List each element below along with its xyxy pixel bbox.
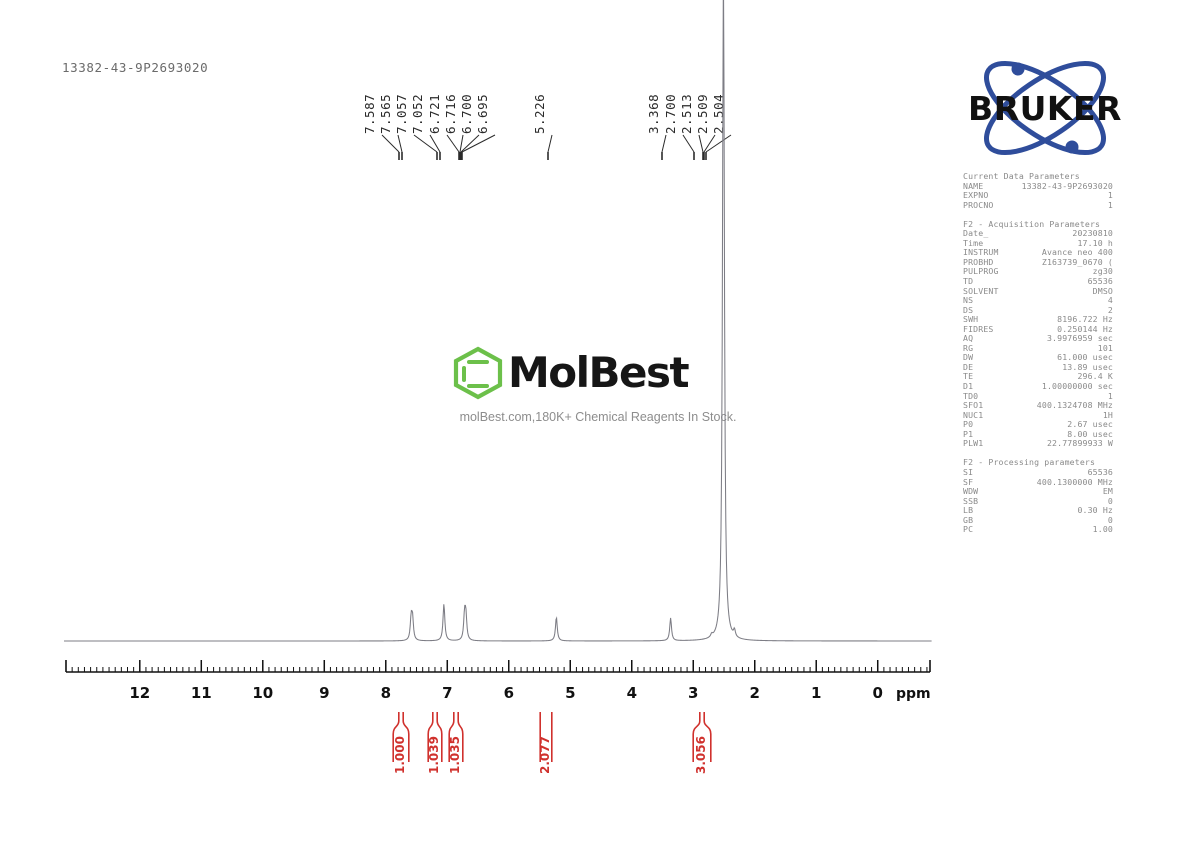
nmr-spectrum-page: 13382-43-9P2693020 BRUKER Current Data P…	[0, 0, 1190, 842]
integral-value: 1.039	[427, 736, 441, 774]
integral-value: 1.035	[448, 736, 462, 774]
integral-value: 3.056	[694, 736, 708, 774]
integral-value: 2.077	[538, 736, 552, 774]
integral-value: 1.000	[393, 736, 407, 774]
integral-layer: 1.0001.0391.0352.0773.056	[0, 0, 1190, 842]
